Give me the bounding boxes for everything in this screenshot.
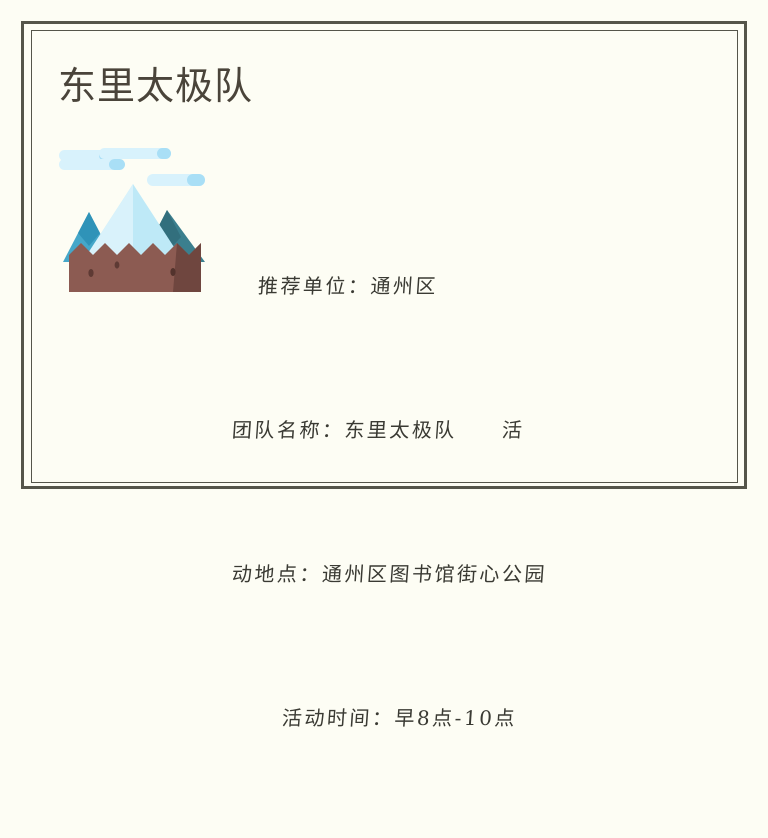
detail-line-activity-place: 动地点：通州区图书馆街心公园 bbox=[230, 550, 663, 598]
poster-page: 东里太极队 bbox=[0, 0, 768, 510]
detail-line-team-name: 团队名称：东里太极队 活 bbox=[230, 406, 663, 454]
page-title: 东里太极队 bbox=[58, 62, 253, 112]
detail-line-recommending-unit: 推荐单位：通州区 bbox=[230, 262, 663, 310]
base-speckle bbox=[115, 261, 120, 268]
base-speckle bbox=[170, 268, 175, 276]
mountain-illustration bbox=[55, 142, 215, 302]
cloud-icon bbox=[59, 148, 205, 186]
base-speckle bbox=[88, 269, 93, 277]
detail-line-activity-time: 活动时间：早8点-10点 bbox=[230, 694, 663, 742]
detail-text-block: 推荐单位：通州区 团队名称：东里太极队 活 动地点：通州区图书馆街心公园 活动时… bbox=[232, 166, 662, 838]
